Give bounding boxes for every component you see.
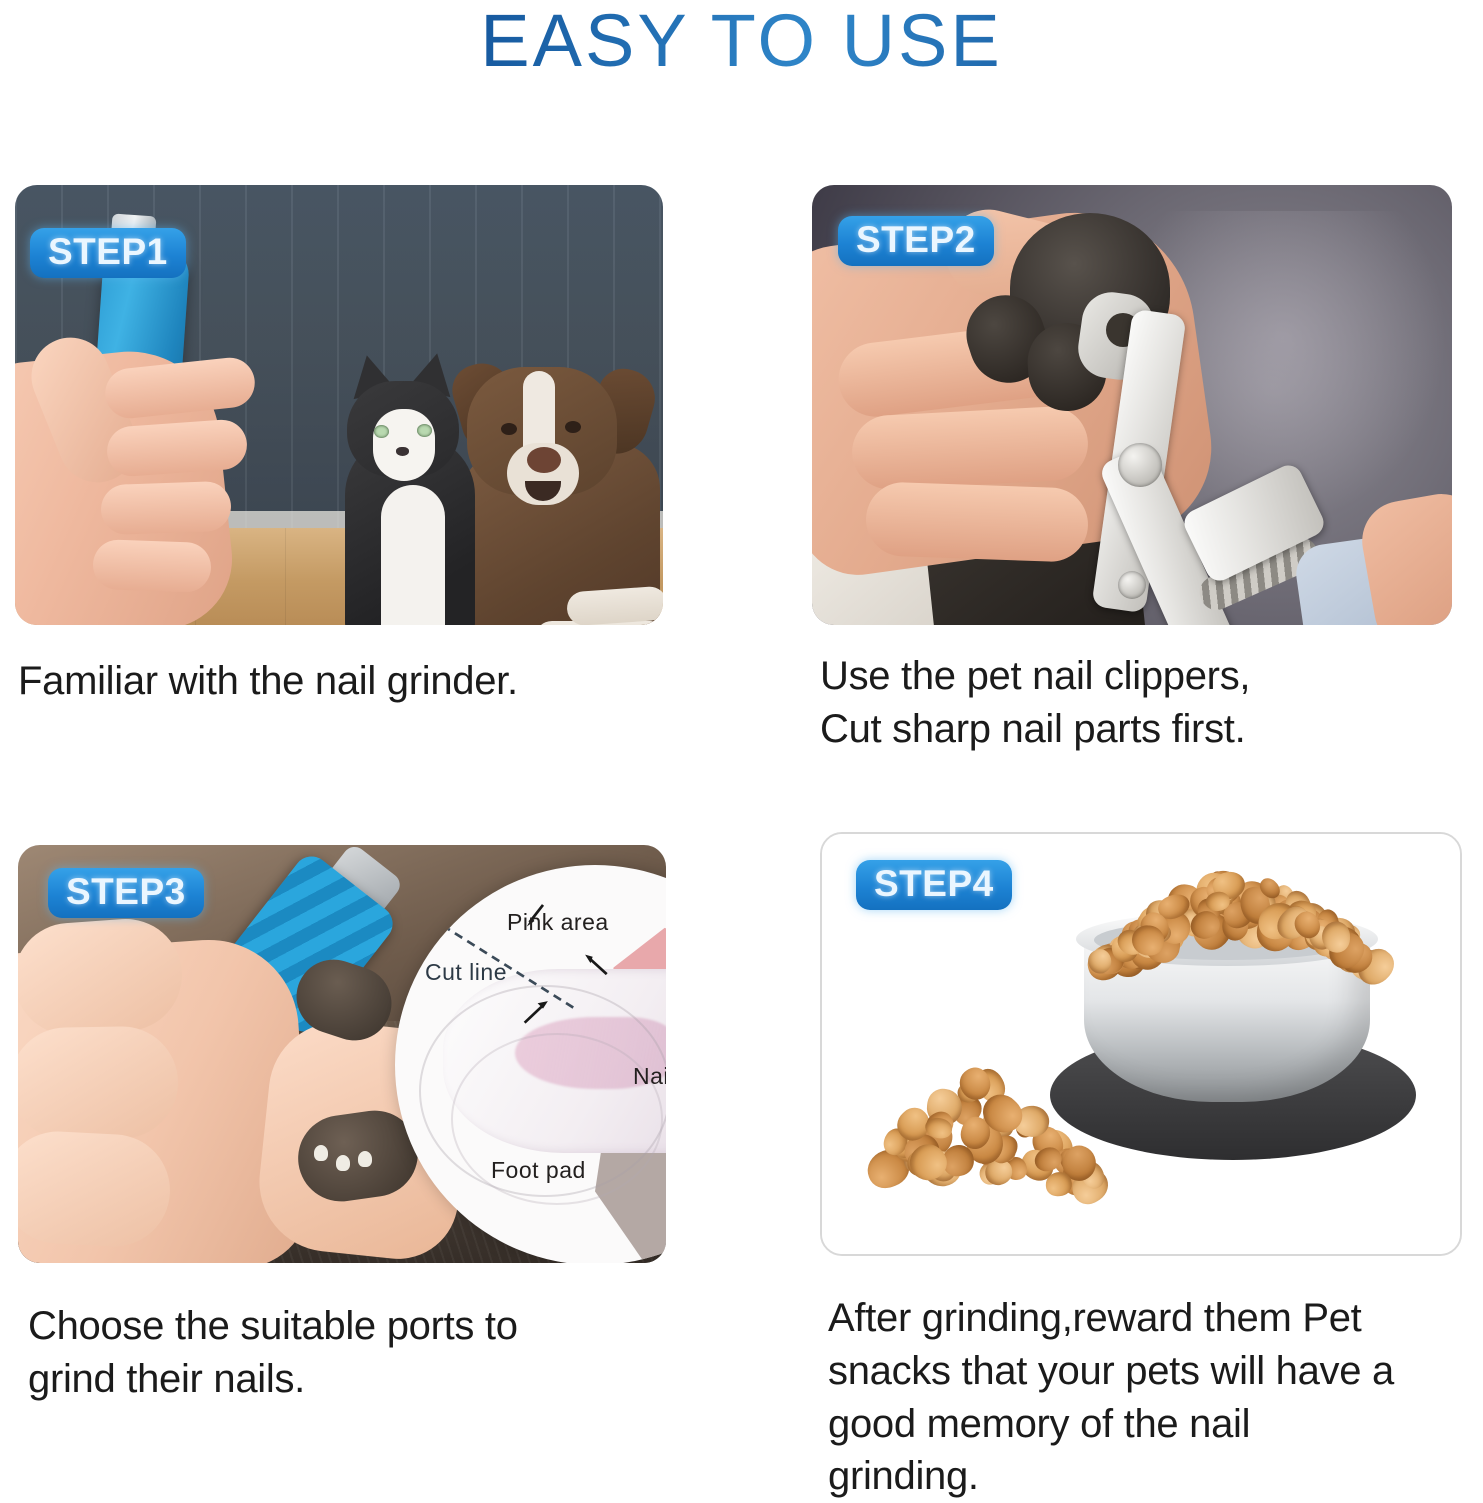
hand-finger: [18, 1129, 173, 1250]
cat-eye: [374, 425, 389, 438]
dog-eye: [565, 421, 581, 433]
hand-finger: [105, 418, 248, 478]
dog-eye: [501, 423, 517, 435]
spilled-kibble: [866, 1004, 1116, 1179]
step2-badge: STEP2: [838, 216, 994, 266]
dog-claw: [314, 1145, 328, 1161]
hand-finger: [850, 405, 1090, 491]
step3-badge: STEP3: [48, 868, 204, 918]
hand-finger: [18, 1026, 179, 1141]
step1-caption: Familiar with the nail grinder.: [18, 655, 678, 708]
hand-finger: [92, 539, 212, 593]
label-pink-area: Pink area: [507, 909, 609, 936]
step3-caption: Choose the suitable ports to grind their…: [28, 1300, 668, 1406]
label-cut-line: Cut line: [425, 959, 507, 986]
hand-finger: [865, 481, 1089, 563]
dog-claw: [358, 1151, 372, 1167]
cat-face: [373, 409, 435, 481]
cat-eye: [417, 424, 432, 437]
label-nail-bed: Nail bed: [633, 1063, 666, 1090]
dog-nose: [527, 447, 561, 473]
cat-chest: [381, 485, 445, 625]
cat-nose: [396, 447, 409, 456]
hand-finger: [100, 481, 232, 536]
kibble-in-bowl: [1086, 848, 1372, 960]
clipper-lock-screw: [1118, 571, 1146, 599]
label-foot-pad: Foot pad: [491, 1157, 586, 1184]
dog-claw: [336, 1155, 350, 1171]
step2-caption: Use the pet nail clippers, Cut sharp nai…: [820, 650, 1460, 756]
page-title: EASY TO USE: [0, 4, 1483, 78]
step4-caption: After grinding,reward them Pet snacks th…: [828, 1292, 1476, 1503]
clipper-pivot-screw: [1118, 443, 1162, 487]
step1-badge: STEP1: [30, 228, 186, 278]
dog-leg: [566, 586, 663, 625]
step4-badge: STEP4: [856, 860, 1012, 910]
